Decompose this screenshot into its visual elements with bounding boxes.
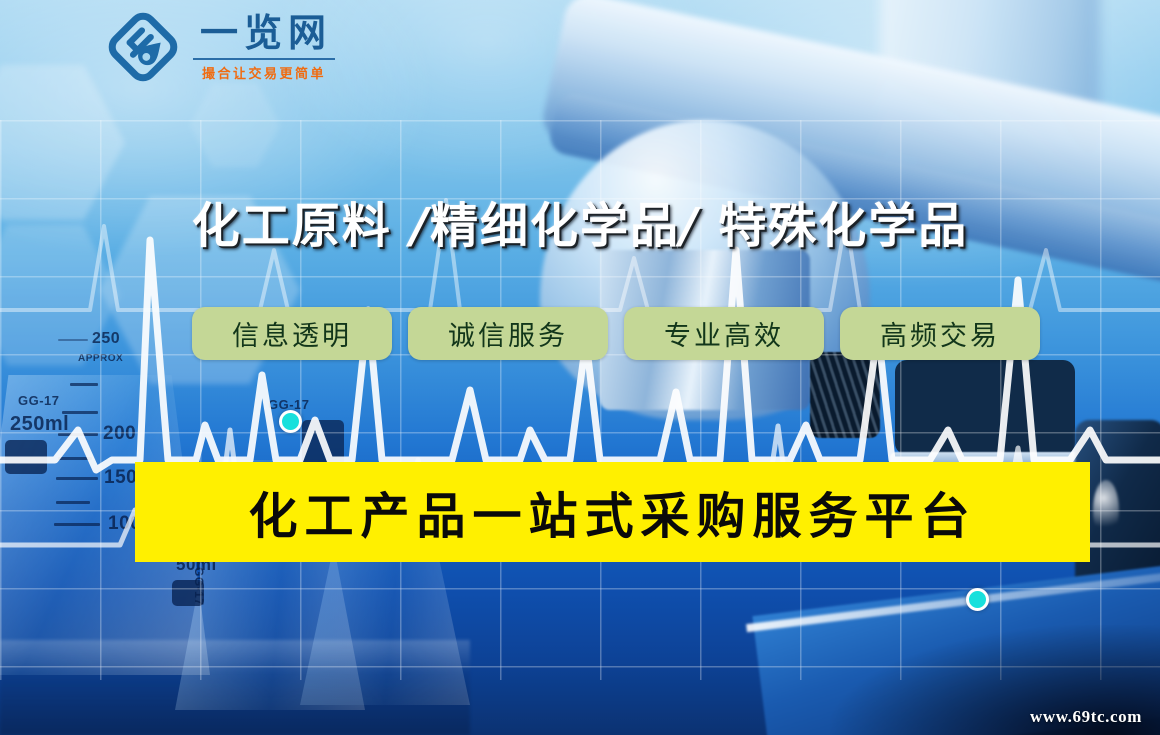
logo-slogan: 撮合让交易更简单 — [202, 63, 326, 82]
feature-pill-1-label: 信息透明 — [232, 314, 352, 353]
feature-pill-3[interactable]: 专业高效 — [624, 307, 824, 360]
feature-pill-1[interactable]: 信息透明 — [192, 307, 392, 360]
feature-pill-3-label: 专业高效 — [664, 314, 784, 353]
accent-dot-right-icon — [966, 588, 989, 611]
headline-separator-1: / — [410, 198, 430, 254]
headline-part-2: 精细化学品 — [430, 198, 680, 254]
headline-separator-2: / — [680, 198, 700, 254]
feature-pill-4[interactable]: 高频交易 — [840, 307, 1040, 360]
feature-pill-4-label: 高频交易 — [880, 314, 1000, 353]
logo-title: 一览网 — [192, 12, 336, 56]
headline-part-3: 特殊化学品 — [718, 198, 968, 254]
callout-banner: 化工产品一站式采购服务平台 — [135, 462, 1090, 562]
page-title: 化工原料 /精细化学品/ 特殊化学品 — [0, 186, 1160, 256]
site-logo[interactable]: 一览网 撮合让交易更简单 — [104, 8, 336, 86]
accent-dot-left-icon — [279, 410, 302, 433]
headline-part-1: 化工原料 — [192, 198, 392, 254]
callout-banner-text: 化工产品一站式采购服务平台 — [248, 477, 976, 548]
yilanwang-diamond-logo-icon — [104, 8, 182, 86]
logo-divider — [193, 58, 335, 60]
promo-banner: 250 APPROX GG-17 250ml 200 150 100 50ml … — [0, 0, 1160, 735]
feature-pill-2-label: 诚信服务 — [448, 314, 568, 353]
feature-pill-2[interactable]: 诚信服务 — [408, 307, 608, 360]
feature-pill-list: 信息透明 诚信服务 专业高效 高频交易 — [192, 307, 1040, 360]
watermark: www.69tc.com — [1030, 707, 1142, 727]
